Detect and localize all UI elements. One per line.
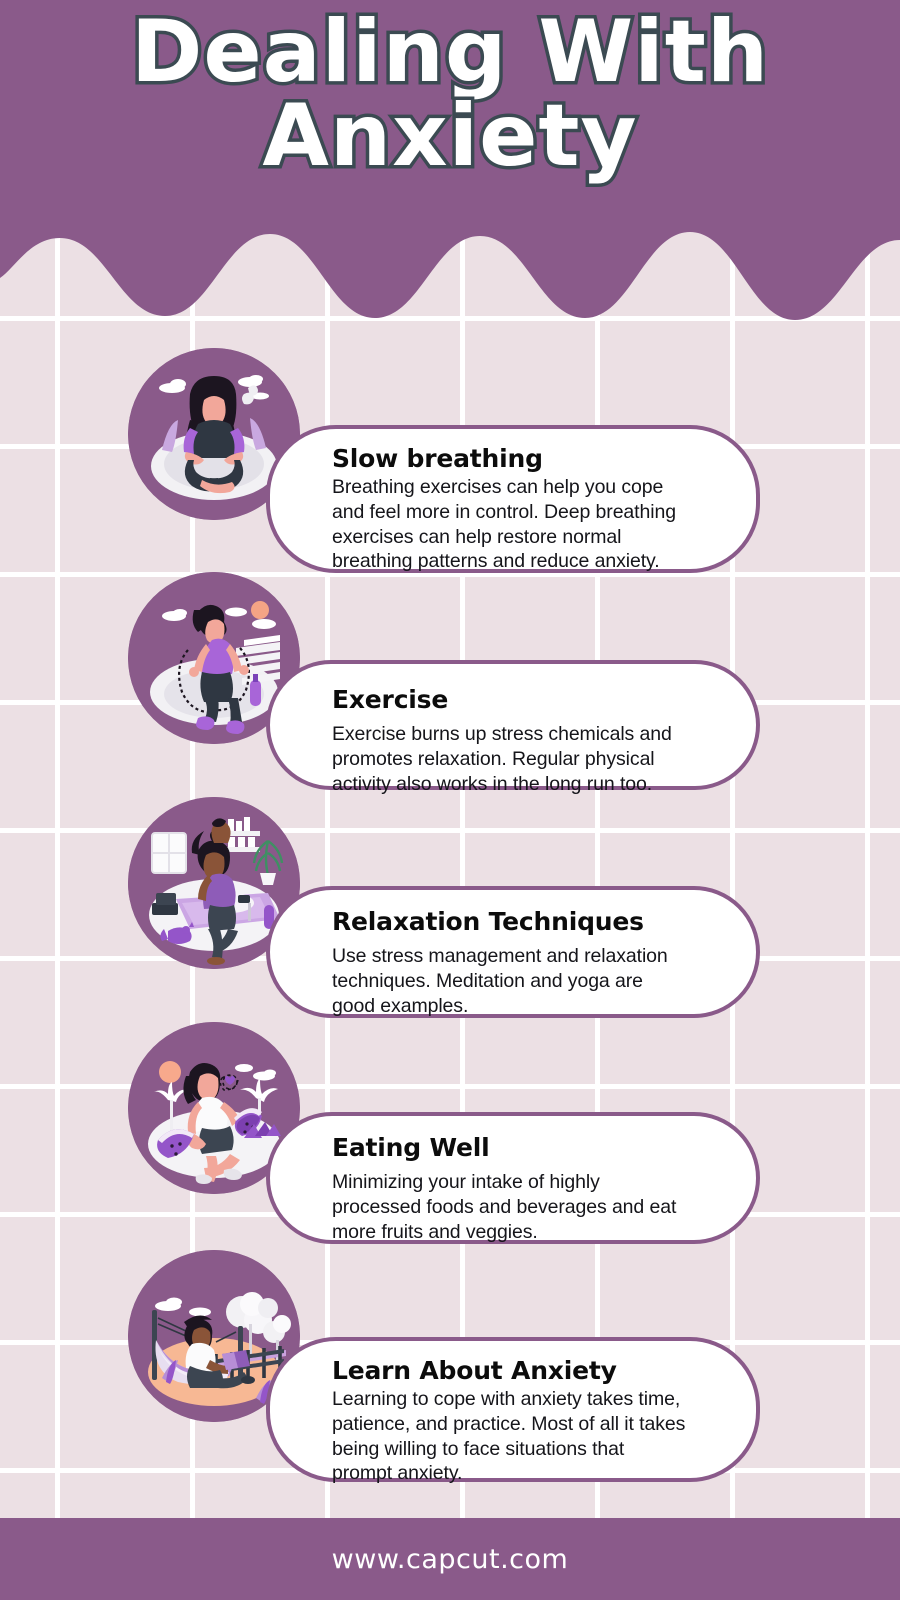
tip-card[interactable]: Learn About Anxiety Learning to cope wit… <box>266 1337 760 1482</box>
tip-title: Learn About Anxiety <box>332 1355 712 1387</box>
tips-list: Slow breathing Breathing exercises can h… <box>0 0 900 1600</box>
tip-card[interactable]: Relaxation Techniques Use stress managem… <box>266 886 760 1018</box>
tip-title: Eating Well <box>332 1132 712 1164</box>
infographic-poster: Dealing With Anxiety <box>0 0 900 1600</box>
tip-card[interactable]: Exercise Exercise burns up stress chemic… <box>266 660 760 790</box>
tip-card[interactable]: Eating Well Minimizing your intake of hi… <box>266 1112 760 1244</box>
tip-body: Learning to cope with anxiety takes time… <box>332 1387 712 1486</box>
tip-title: Exercise <box>332 684 712 716</box>
tip-body: Use stress management and relaxation tec… <box>332 944 712 1018</box>
tip-title: Relaxation Techniques <box>332 906 712 938</box>
footer-url[interactable]: www.capcut.com <box>332 1544 569 1575</box>
footer-bar: www.capcut.com <box>0 1518 900 1600</box>
tip-body: Minimizing your intake of highly process… <box>332 1170 712 1244</box>
tip-card[interactable]: Slow breathing Breathing exercises can h… <box>266 425 760 573</box>
tip-body: Breathing exercises can help you cope an… <box>332 475 712 574</box>
tip-title: Slow breathing <box>332 443 712 475</box>
tip-body: Exercise burns up stress chemicals and p… <box>332 722 712 796</box>
